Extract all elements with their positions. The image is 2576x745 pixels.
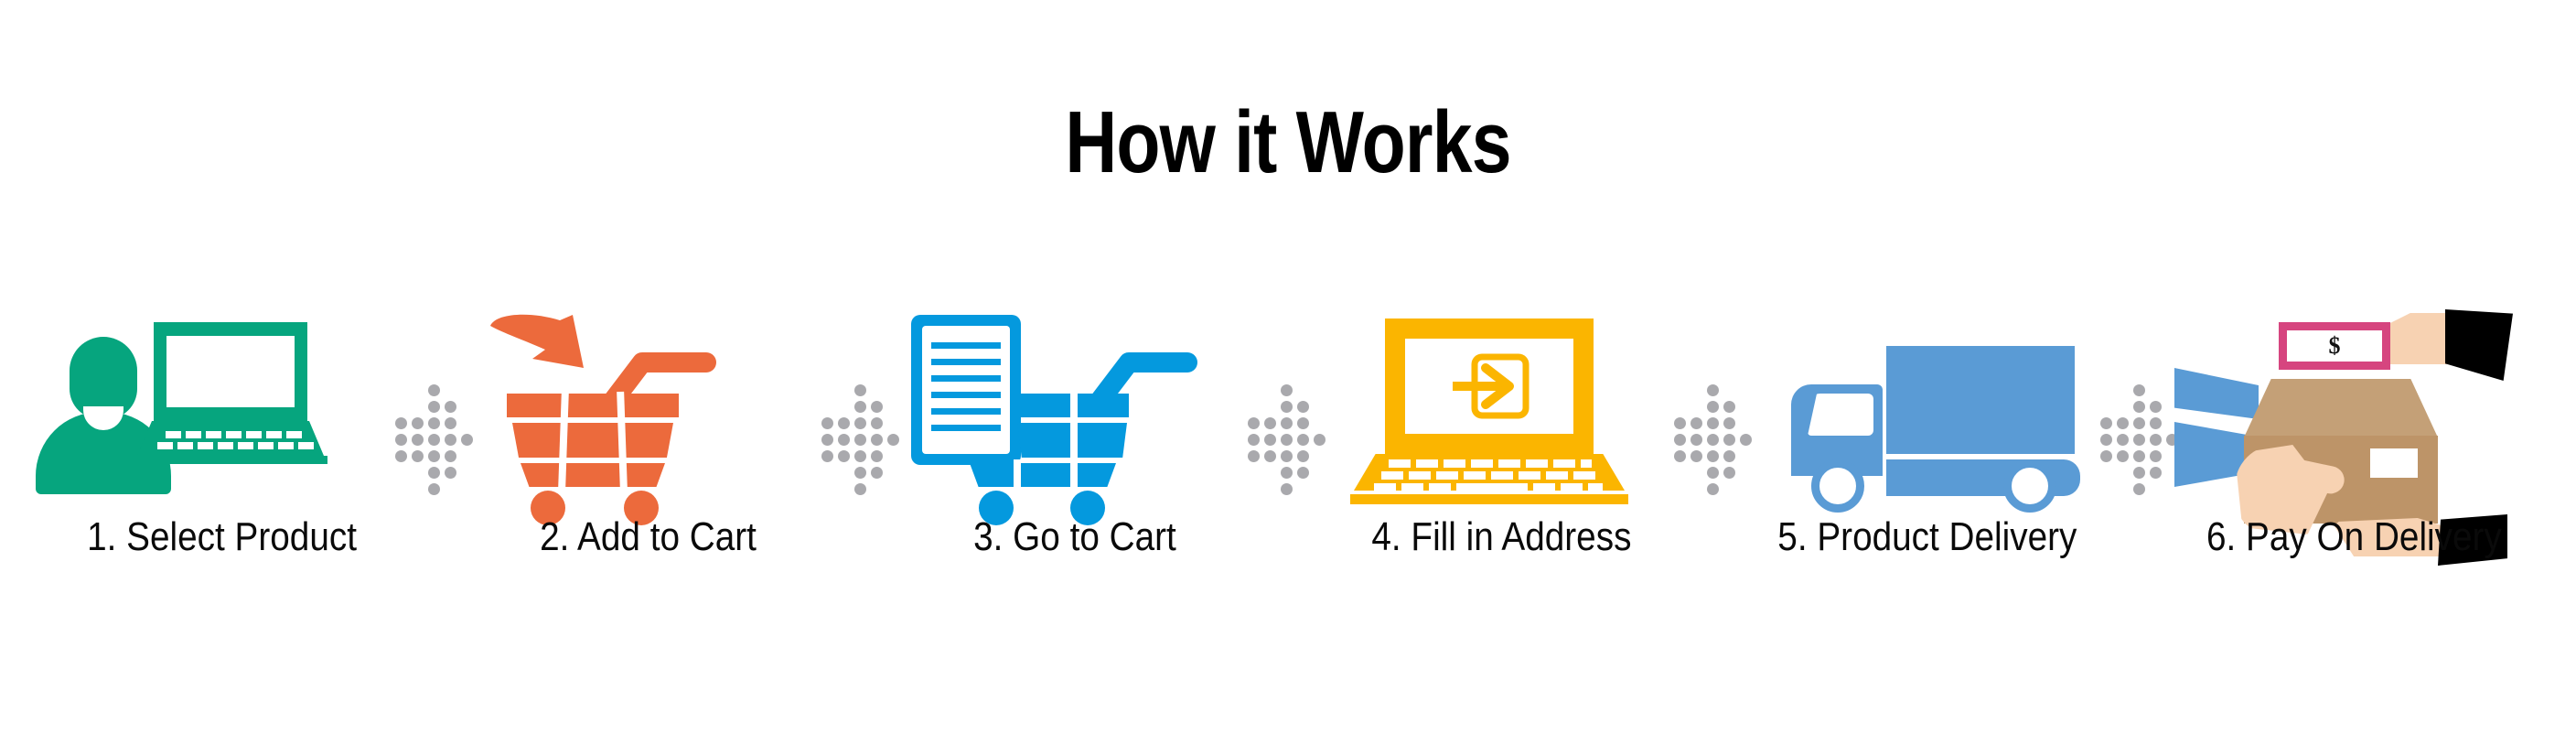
cart-divider-1 bbox=[1070, 392, 1078, 489]
blue-card-upper bbox=[2174, 368, 2259, 419]
step-1-label: 1. Select Product bbox=[88, 513, 358, 561]
delivery-truck-icon bbox=[1758, 302, 2097, 508]
step-2-add-to-cart[interactable]: 2. Add to Cart bbox=[479, 302, 818, 595]
step-1-select-product[interactable]: 1. Select Product bbox=[53, 302, 392, 595]
box-shipping-label bbox=[2370, 448, 2418, 478]
step-5-product-delivery[interactable]: 5. Product Delivery bbox=[1758, 302, 2097, 595]
sleeve-top-right bbox=[2445, 309, 2513, 381]
step-2-label: 2. Add to Cart bbox=[541, 513, 757, 561]
laptop-lid-icon bbox=[154, 322, 307, 421]
laptop-base-foot-icon bbox=[1350, 494, 1628, 504]
step-3-go-to-cart[interactable]: 3. Go to Cart bbox=[906, 302, 1244, 595]
step-3-label: 3. Go to Cart bbox=[973, 513, 1176, 561]
banknote-currency-symbol: $ bbox=[2279, 322, 2390, 370]
cart-row-3 bbox=[521, 463, 665, 487]
truck-cargo-box bbox=[1886, 346, 2075, 454]
cart-with-curved-arrow-icon bbox=[479, 302, 818, 508]
truck-window bbox=[1808, 394, 1873, 436]
step-5-label: 5. Product Delivery bbox=[1777, 513, 2077, 561]
laptop-base-icon bbox=[137, 421, 324, 456]
cart-row-3 bbox=[970, 463, 1116, 487]
login-arrow-icon bbox=[1451, 353, 1529, 419]
step-6-pay-on-delivery[interactable]: $ 6. Pay On Delivery bbox=[2184, 302, 2523, 595]
document-line bbox=[931, 375, 1001, 382]
step-4-fill-in-address[interactable]: 4. Fill in Address bbox=[1332, 302, 1670, 595]
box-top-flap bbox=[2244, 379, 2438, 437]
laptop-with-login-arrow-icon bbox=[1332, 302, 1670, 508]
person-at-laptop-icon bbox=[53, 302, 392, 508]
separator-arrow-3 bbox=[1244, 302, 1332, 508]
laptop-base-foot-icon bbox=[134, 456, 327, 464]
cart-divider-2 bbox=[1014, 459, 1021, 489]
page-title: How it Works bbox=[231, 99, 2344, 187]
how-it-works-infographic: How it Works bbox=[0, 0, 2576, 745]
cart-row-2 bbox=[512, 423, 673, 458]
document-line bbox=[931, 359, 1001, 365]
steps-strip: 1. Select Product bbox=[0, 302, 2576, 595]
step-4-label: 4. Fill in Address bbox=[1371, 513, 1631, 561]
document-line bbox=[931, 425, 1001, 431]
truck-wheel-front bbox=[1811, 459, 1864, 513]
spacebar-key bbox=[1456, 483, 1528, 491]
document-line bbox=[931, 392, 1001, 398]
separator-arrow-1 bbox=[392, 302, 479, 508]
document-line bbox=[931, 408, 1001, 415]
step-6-label: 6. Pay On Delivery bbox=[2206, 513, 2502, 561]
hands-exchange-box-and-cash-icon: $ bbox=[2171, 302, 2537, 508]
document-with-cart-icon bbox=[906, 302, 1244, 508]
cart-row-1 bbox=[507, 394, 679, 417]
separator-arrow-2 bbox=[818, 302, 906, 508]
document-line bbox=[931, 342, 1001, 349]
separator-arrow-4 bbox=[1670, 302, 1758, 508]
truck-wheel-rear bbox=[2003, 459, 2056, 513]
